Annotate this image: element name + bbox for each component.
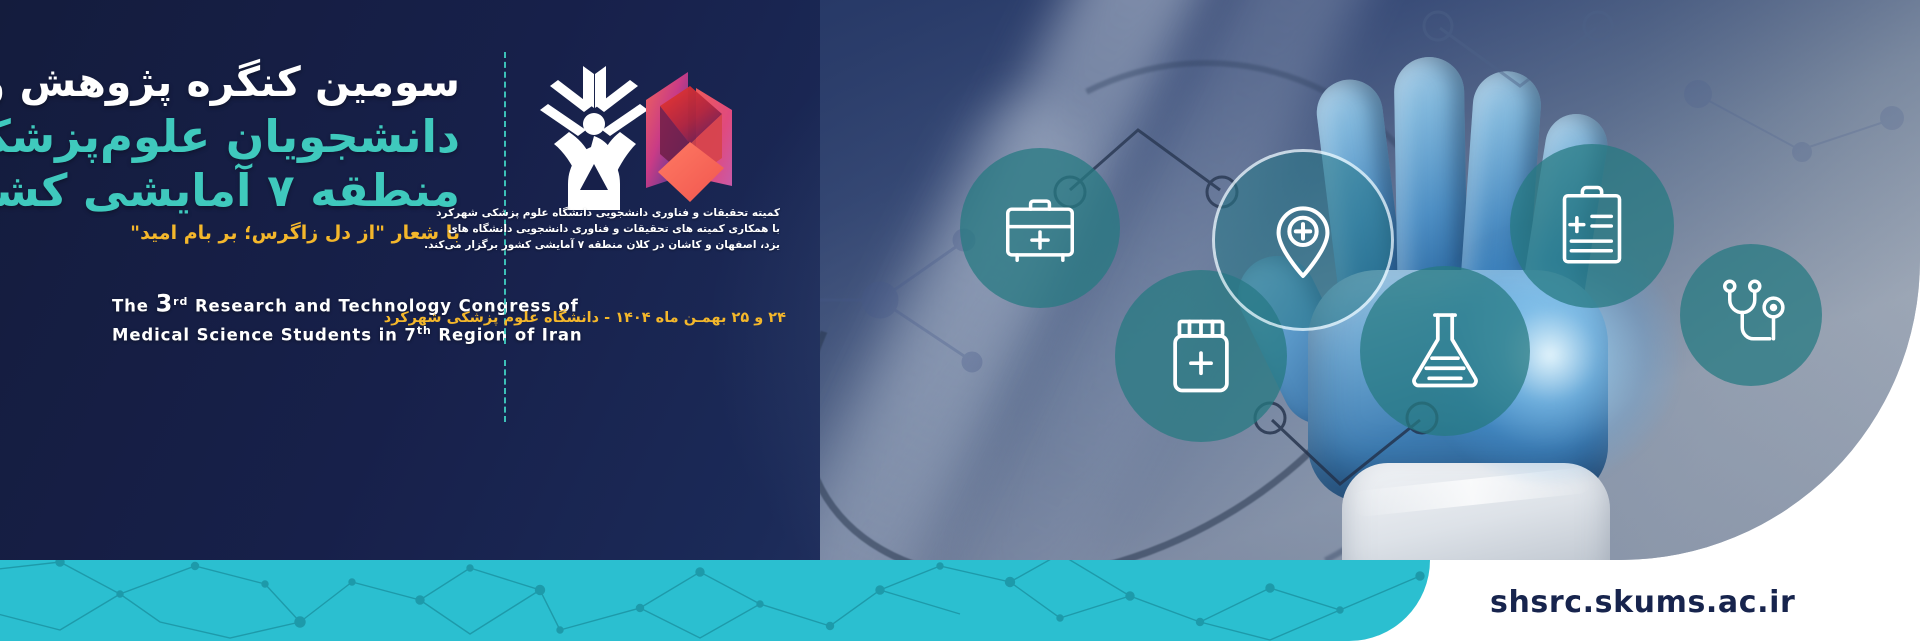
website-url[interactable]: shsrc.skums.ac.ir [1490,572,1910,632]
english-prefix: The [112,297,149,316]
network-pattern [0,560,1430,641]
english-line2-b: Region of Iran [438,325,582,344]
title-line-1: سومین کنگره پژوهش و فناوری [0,58,460,106]
logo-group [520,58,780,208]
congress-slogan: با شعار "از دل زاگرس؛ بر بام امید" [130,222,460,244]
organizers-block: کمیته تحقیقات و فناوری دانشجویی دانشگاه … [520,205,780,253]
english-ordinal-number: 3 [156,290,174,318]
erlenmeyer-flask-icon [1360,266,1530,436]
vertical-dashed-divider [504,52,506,344]
english-line2-a: Medical Science Students in 7 [112,325,417,344]
location-pin-medical-icon [1215,152,1391,328]
title-line-2: دانشجویان علوم‌پزشکی [0,110,460,163]
congress-cube-emblem [636,62,746,212]
english-ordinal-suffix: rd [173,295,188,308]
ministry-of-health-emblem [528,60,646,210]
title-line-3: منطقه ۷ آمایشی کشـور [0,164,460,217]
clipboard-report-icon [1510,144,1674,308]
footer-teal-band [0,560,1430,641]
congress-banner: سومین کنگره پژوهش و فناوری دانشجویان علو… [0,0,1920,641]
glove-cuff [1342,463,1610,560]
vertical-dashed-divider [504,360,506,422]
organizer-line-2: با همکاری کمیته های تحقیقات و فناوری دان… [520,221,780,237]
organizer-line-3: یزد، اصفهان و کاشان در کلان منطقه ۷ آمای… [520,237,780,253]
stethoscope-icon [1680,244,1822,386]
date-and-venue: ۲۴ و ۲۵ بهمـن ماه ۱۴۰۴ - دانشگاه علوم پز… [516,310,786,326]
banner-stage: سومین کنگره پژوهش و فناوری دانشجویان علو… [0,0,1920,560]
lab-photo-background [820,0,1920,560]
medical-kit-icon [960,148,1120,308]
organizer-line-1: کمیته تحقیقات و فناوری دانشجویی دانشگاه … [520,205,780,221]
